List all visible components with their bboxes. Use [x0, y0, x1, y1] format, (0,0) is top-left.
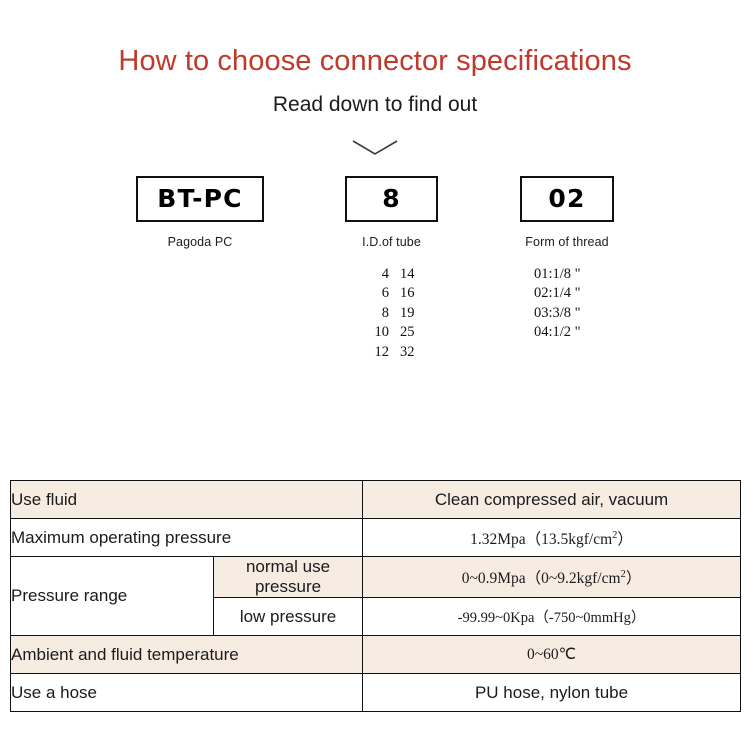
code-caption-tube-id: I.D.of tube [345, 222, 438, 249]
chevron-down-icon [351, 138, 399, 158]
code-box-tube-id: 8 [345, 176, 438, 222]
tube-id-option-b: 25 [400, 323, 428, 343]
spec-label-use-a-hose: Use a hose [11, 674, 363, 712]
list-item: 6 16 [345, 284, 438, 304]
table-row: Ambient and fluid temperature 0~60℃ [11, 636, 741, 674]
tube-id-option-b: 14 [400, 265, 428, 285]
spec-label-use-fluid: Use fluid [11, 481, 363, 519]
tube-id-option-a: 8 [355, 304, 400, 324]
tube-id-option-a: 4 [355, 265, 400, 285]
code-column-tube-id: 8 I.D.of tube 4 14 6 16 8 19 10 25 12 32 [345, 176, 438, 363]
chevron-down-icon-wrap [0, 138, 750, 166]
code-caption-thread-form: Form of thread [520, 222, 614, 249]
list-item: 01:1/8 " [520, 265, 614, 285]
spec-value-normal-use-pressure: 0~0.9Mpa（0~9.2kgf/cm2） [363, 557, 741, 598]
list-item: 10 25 [345, 323, 438, 343]
spec-label-pressure-range: Pressure range [11, 557, 214, 636]
page-subtitle: Read down to find out [0, 78, 750, 116]
specification-table-wrap: Use fluid Clean compressed air, vacuum M… [10, 480, 740, 712]
spec-value-ambient-fluid-temperature: 0~60℃ [363, 636, 741, 674]
code-option-list-thread-form: 01:1/8 " 02:1/4 " 03:3/8 " 04:1/2 " [520, 249, 614, 343]
table-row: Use a hose PU hose, nylon tube [11, 674, 741, 712]
table-row: Pressure range normal use pressure 0~0.9… [11, 557, 741, 598]
list-item: 8 19 [345, 304, 438, 324]
page-header: How to choose connector specifications R… [0, 0, 750, 116]
value-tail: ） [617, 531, 633, 548]
value-main: -99.99~0Kpa（-750~0mmHg） [458, 610, 646, 626]
value-tail: ） [626, 570, 642, 587]
spec-label-ambient-fluid-temperature: Ambient and fluid temperature [11, 636, 363, 674]
tube-id-option-a: 6 [355, 284, 400, 304]
list-item: 03:3/8 " [520, 304, 614, 324]
spec-value-low-pressure: -99.99~0Kpa（-750~0mmHg） [363, 598, 741, 636]
code-column-series: BT-PC Pagoda PC [136, 176, 264, 249]
spec-label-max-operating-pressure: Maximum operating pressure [11, 519, 363, 557]
list-item: 12 32 [345, 343, 438, 363]
list-item: 02:1/4 " [520, 284, 614, 304]
spec-value-use-fluid: Clean compressed air, vacuum [363, 481, 741, 519]
tube-id-option-a: 12 [355, 343, 400, 363]
tube-id-option-a: 10 [355, 323, 400, 343]
value-main: 1.32Mpa（13.5kgf/cm [470, 531, 612, 548]
spec-value-use-a-hose: PU hose, nylon tube [363, 674, 741, 712]
tube-id-option-b: 16 [400, 284, 428, 304]
page-title: How to choose connector specifications [0, 46, 750, 78]
table-row: Maximum operating pressure 1.32Mpa（13.5k… [11, 519, 741, 557]
spec-sublabel-normal-use-pressure: normal use pressure [214, 557, 363, 598]
list-item: 04:1/2 " [520, 323, 614, 343]
code-breakdown-section: BT-PC Pagoda PC 8 I.D.of tube 4 14 6 16 … [0, 176, 750, 376]
tube-id-option-b: 19 [400, 304, 428, 324]
value-main: 0~0.9Mpa（0~9.2kgf/cm [462, 570, 621, 587]
code-box-series: BT-PC [136, 176, 264, 222]
spec-sublabel-low-pressure: low pressure [214, 598, 363, 636]
table-row: Use fluid Clean compressed air, vacuum [11, 481, 741, 519]
specification-table: Use fluid Clean compressed air, vacuum M… [10, 480, 741, 712]
code-caption-series: Pagoda PC [136, 222, 264, 249]
code-column-thread-form: 02 Form of thread 01:1/8 " 02:1/4 " 03:3… [520, 176, 614, 343]
spec-value-max-operating-pressure: 1.32Mpa（13.5kgf/cm2） [363, 519, 741, 557]
code-option-list-tube-id: 4 14 6 16 8 19 10 25 12 32 [345, 249, 438, 363]
tube-id-option-b: 32 [400, 343, 428, 363]
list-item: 4 14 [345, 265, 438, 285]
code-box-thread-form: 02 [520, 176, 614, 222]
